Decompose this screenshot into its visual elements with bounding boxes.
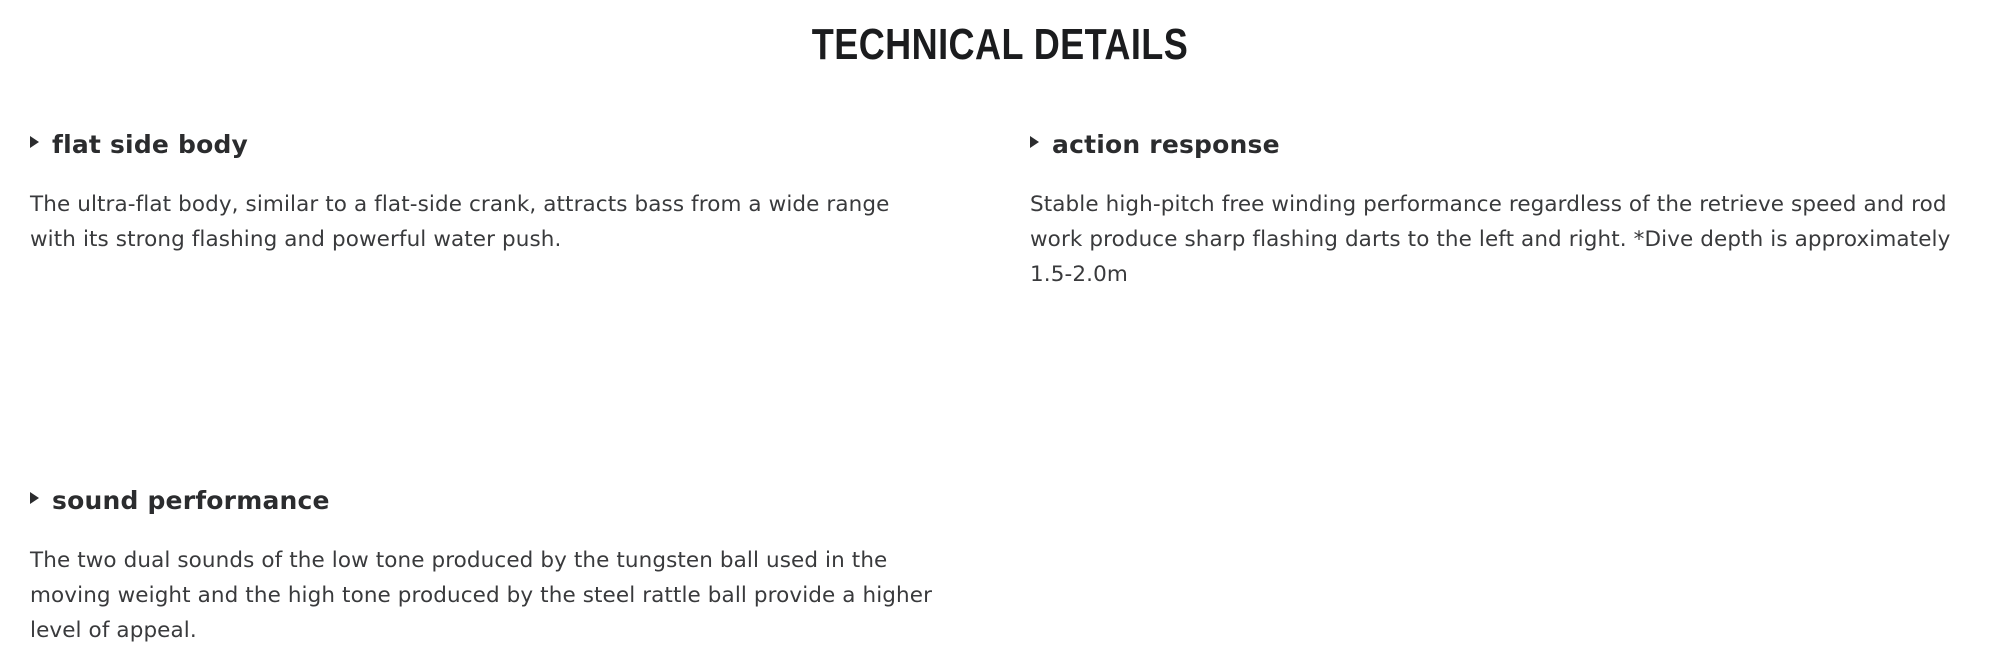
features-grid: flat side body The ultra-flat body, simi…	[0, 100, 2000, 648]
feature-block-flat-side-body: flat side body The ultra-flat body, simi…	[0, 100, 1030, 292]
triangle-right-icon	[30, 492, 39, 504]
feature-block-empty	[1030, 292, 2000, 648]
feature-block-sound-performance: sound performance The two dual sounds of…	[0, 292, 1030, 648]
triangle-right-icon	[30, 136, 39, 148]
feature-body-flat-side-body: The ultra-flat body, similar to a flat-s…	[30, 187, 935, 257]
technical-details-page: TECHNICAL DETAILS flat side body The ult…	[0, 0, 2000, 609]
feature-heading-label: sound performance	[52, 486, 330, 515]
feature-heading-sound-performance: sound performance	[30, 486, 970, 515]
feature-block-action-response: action response Stable high-pitch free w…	[1030, 100, 2000, 292]
triangle-right-icon	[1030, 136, 1039, 148]
feature-heading-flat-side-body: flat side body	[30, 130, 970, 159]
feature-heading-action-response: action response	[1030, 130, 1960, 159]
feature-body-sound-performance: The two dual sounds of the low tone prod…	[30, 543, 935, 648]
feature-body-action-response: Stable high-pitch free winding performan…	[1030, 187, 1960, 292]
feature-heading-label: action response	[1052, 130, 1280, 159]
feature-heading-label: flat side body	[52, 130, 248, 159]
page-title: TECHNICAL DETAILS	[180, 0, 1820, 70]
